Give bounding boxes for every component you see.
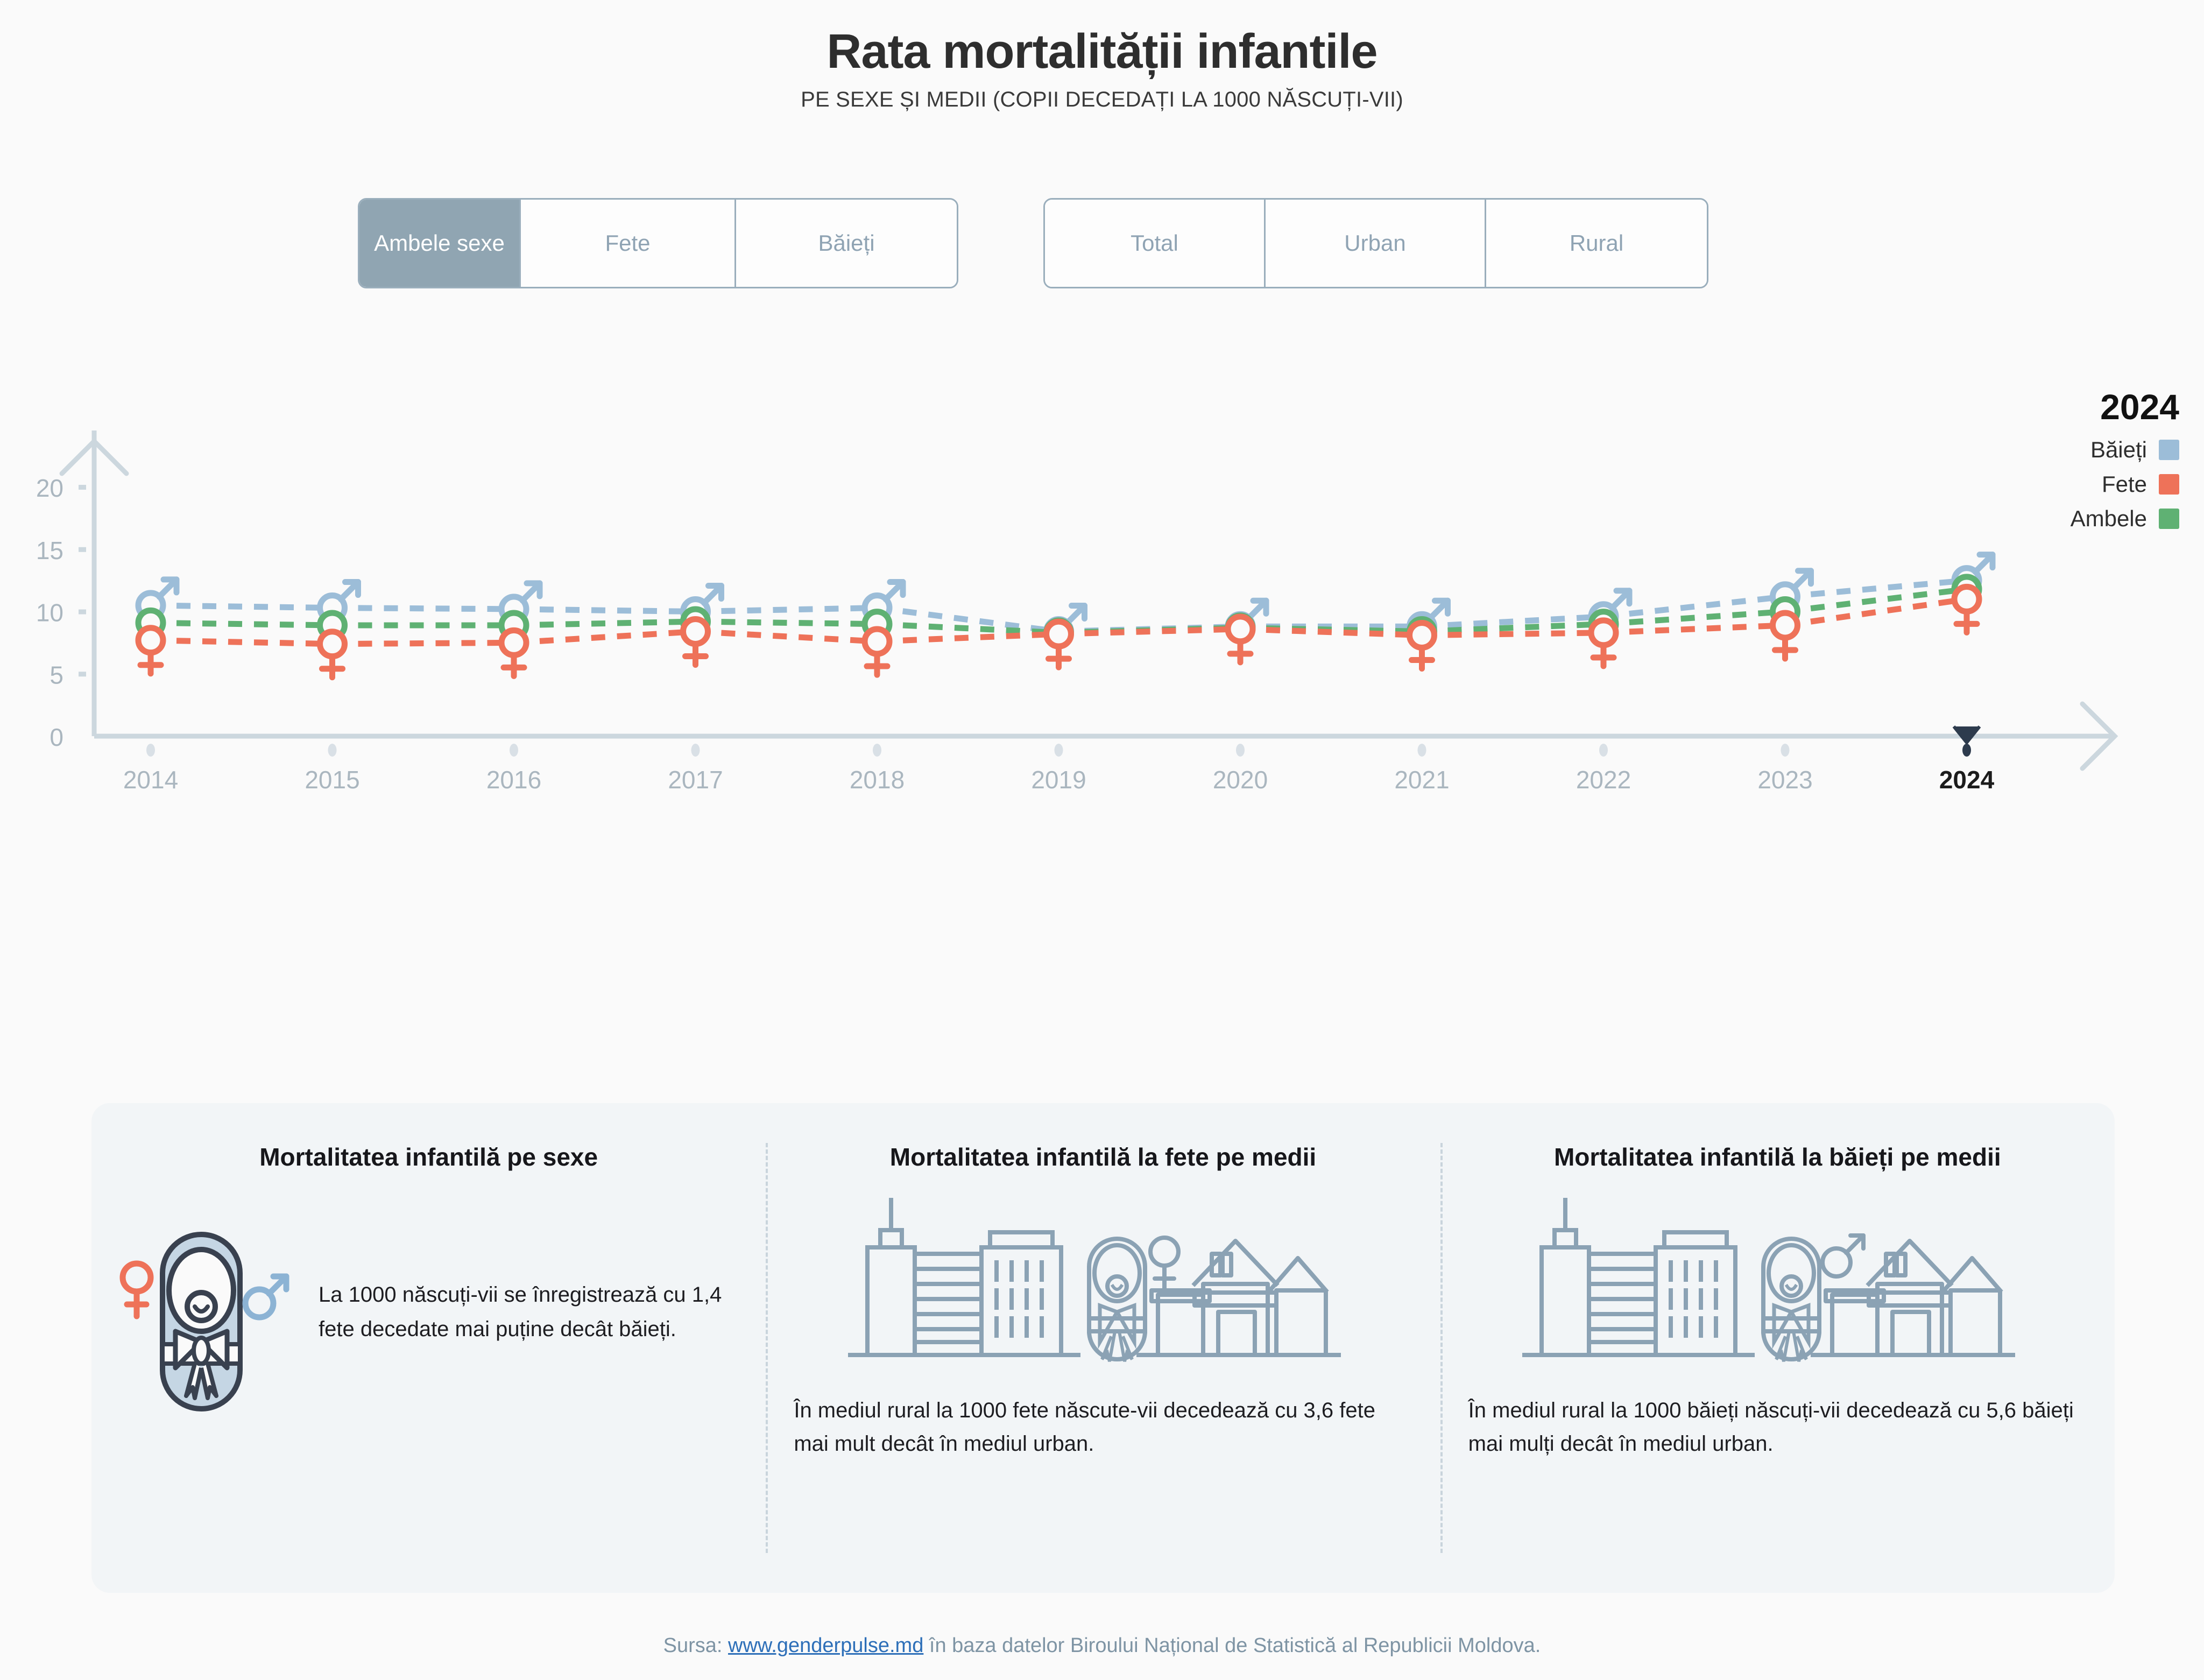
x-tick-label: 2024 <box>1939 766 1995 794</box>
legend-label-fete: Fete <box>2102 471 2147 497</box>
legend-item-fete: Fete <box>2039 471 2179 497</box>
x-tick-dot <box>1055 744 1063 757</box>
page-subtitle: PE SEXE ȘI MEDII (COPII DECEDAȚI LA 1000… <box>0 88 2204 112</box>
data-point-venus-icon <box>138 628 163 674</box>
venus-icon <box>1150 1238 1178 1290</box>
y-tick-label: 15 <box>36 537 63 564</box>
data-point-venus-icon <box>501 630 526 676</box>
data-point-venus-icon <box>320 632 345 677</box>
source-suffix: în baza datelor Biroului Național de Sta… <box>923 1634 1541 1657</box>
x-tick-dot <box>1236 744 1245 757</box>
series-fete <box>138 587 1979 677</box>
legend-item-baieti: Băieți <box>2039 437 2179 463</box>
legend-item-ambele: Ambele <box>2039 506 2179 532</box>
icon-group-girls-areas <box>794 1191 1412 1369</box>
series-line-segment <box>514 609 696 612</box>
legend-label-ambele: Ambele <box>2071 506 2147 532</box>
series-line-segment <box>333 608 514 609</box>
toggle-baieti[interactable]: Băieți <box>736 200 957 287</box>
swaddled-baby-icon <box>1089 1239 1145 1361</box>
sex-toggle-group[interactable]: Ambele sexe Fete Băieți <box>358 198 958 288</box>
chart-legend: 2024 Băieți Fete Ambele <box>2039 386 2179 540</box>
insight-card-girls-areas: Mortalitatea infantilă la fete pe medii <box>766 1103 1440 1593</box>
data-point-venus-icon <box>1591 620 1616 666</box>
insight-card-sexes: Mortalitatea infantilă pe sexe <box>91 1103 766 1593</box>
legend-swatch-baieti <box>2159 440 2179 460</box>
urban-baby-rural-icon-boys <box>1503 1191 2052 1369</box>
y-tick-label: 0 <box>50 723 63 751</box>
x-tick-dot <box>510 744 518 757</box>
x-tick-dot <box>328 744 337 757</box>
y-tick-label: 10 <box>36 599 63 627</box>
line-chart: 0510152020142015201620172018201920202021… <box>0 371 2204 1065</box>
x-tick-label: 2016 <box>486 766 541 794</box>
insight-title-girls-areas: Mortalitatea infantilă la fete pe medii <box>794 1142 1412 1173</box>
series-line-segment <box>696 622 878 624</box>
x-tick-label: 2021 <box>1394 766 1449 794</box>
insight-card-boys-areas: Mortalitatea infantilă la băieți pe medi… <box>1440 1103 2115 1593</box>
source-link[interactable]: www.genderpulse.md <box>728 1634 923 1657</box>
icon-group-boys-areas <box>1468 1191 2087 1369</box>
infographic-page: Rata mortalității infantile PE SEXE ȘI M… <box>0 0 2204 1680</box>
series-line-segment <box>151 623 333 625</box>
legend-label-baieti: Băieți <box>2090 437 2147 463</box>
data-point-venus-icon <box>865 629 889 675</box>
x-tick-label: 2015 <box>305 766 359 794</box>
series-line-segment <box>514 632 696 643</box>
series-line-segment <box>1422 633 1604 636</box>
swaddled-baby-icon <box>1763 1239 1819 1361</box>
toggle-ambele-sexe[interactable]: Ambele sexe <box>359 200 521 287</box>
header: Rata mortalității infantile PE SEXE ȘI M… <box>0 0 2204 112</box>
series-line-segment <box>877 634 1059 641</box>
source-prefix: Sursa: <box>663 1634 728 1657</box>
x-tick-dot <box>873 744 881 757</box>
series-line-segment <box>333 643 514 644</box>
data-point-venus-icon <box>1047 622 1071 667</box>
series-line-segment <box>1603 625 1785 633</box>
venus-icon <box>123 1263 151 1316</box>
insight-title-sexes: Mortalitatea infantilă pe sexe <box>119 1142 738 1173</box>
y-tick-label: 5 <box>50 661 63 689</box>
x-tick-dot <box>1962 744 1971 757</box>
data-point-venus-icon <box>683 619 708 665</box>
icon-group-sexes <box>119 1204 302 1420</box>
series-line-segment <box>514 622 696 625</box>
x-tick-dot <box>1781 744 1790 757</box>
page-title: Rata mortalității infantile <box>0 26 2204 78</box>
insight-text-girls-areas: În mediul rural la 1000 fete născute-vii… <box>794 1394 1412 1460</box>
data-point-venus-icon <box>1954 587 1979 632</box>
mars-icon <box>1822 1236 1863 1276</box>
toggle-total[interactable]: Total <box>1045 200 1266 287</box>
y-tick <box>79 610 86 615</box>
y-tick <box>79 672 86 676</box>
data-point-venus-icon <box>1228 617 1253 662</box>
series-line-segment <box>151 640 333 644</box>
x-tick-label: 2020 <box>1213 766 1268 794</box>
area-toggle-group[interactable]: Total Urban Rural <box>1043 198 1708 288</box>
village-houses-icon <box>1813 1241 2013 1355</box>
source-footer: Sursa: www.genderpulse.md în baza datelo… <box>0 1634 2204 1657</box>
data-point-venus-icon <box>1773 613 1798 659</box>
legend-swatch-ambele <box>2159 509 2179 529</box>
series-line-segment <box>1240 629 1422 636</box>
mars-icon <box>245 1276 286 1317</box>
village-houses-icon <box>1139 1241 1339 1355</box>
toggle-rural[interactable]: Rural <box>1486 200 1707 287</box>
data-point-venus-icon <box>1410 623 1435 668</box>
filter-toolbar: Ambele sexe Fete Băieți Total Urban Rura… <box>0 198 2204 288</box>
x-tick-label: 2019 <box>1031 766 1086 794</box>
city-buildings-icon <box>1524 1200 1753 1355</box>
y-tick-label: 20 <box>36 474 63 502</box>
x-tick-dot <box>1418 744 1426 757</box>
x-tick-label: 2022 <box>1576 766 1631 794</box>
x-tick-label: 2014 <box>123 766 178 794</box>
x-tick-label: 2023 <box>1757 766 1812 794</box>
x-tick-dot <box>1599 744 1608 757</box>
x-tick-dot <box>691 744 700 757</box>
y-tick <box>79 485 86 490</box>
series-line-segment <box>151 605 333 608</box>
urban-baby-rural-icon-girls <box>829 1191 1377 1369</box>
legend-swatch-fete <box>2159 474 2179 495</box>
insight-body-sexes: La 1000 născuți-vii se înregistrează cu … <box>119 1204 738 1420</box>
legend-year: 2024 <box>2039 386 2179 427</box>
city-buildings-icon <box>850 1200 1078 1355</box>
insight-text-boys-areas: În mediul rural la 1000 băieți născuți-v… <box>1468 1394 2087 1460</box>
x-tick-label: 2017 <box>668 766 723 794</box>
insights-panel: Mortalitatea infantilă pe sexe <box>91 1103 2115 1593</box>
baby-sex-icon-group <box>119 1204 302 1420</box>
x-tick-label: 2018 <box>850 766 905 794</box>
series-line-segment <box>696 632 878 642</box>
toggle-fete[interactable]: Fete <box>521 200 736 287</box>
series-line-segment <box>696 608 878 612</box>
y-tick <box>79 547 86 552</box>
insight-title-boys-areas: Mortalitatea infantilă la băieți pe medi… <box>1468 1142 2087 1173</box>
chart-area: 0510152020142015201620172018201920202021… <box>0 371 2204 1065</box>
insight-text-sexes: La 1000 născuți-vii se înregistrează cu … <box>319 1277 738 1346</box>
x-tick-dot <box>146 744 155 757</box>
swaddled-baby-icon <box>163 1234 240 1409</box>
toggle-urban[interactable]: Urban <box>1266 200 1486 287</box>
